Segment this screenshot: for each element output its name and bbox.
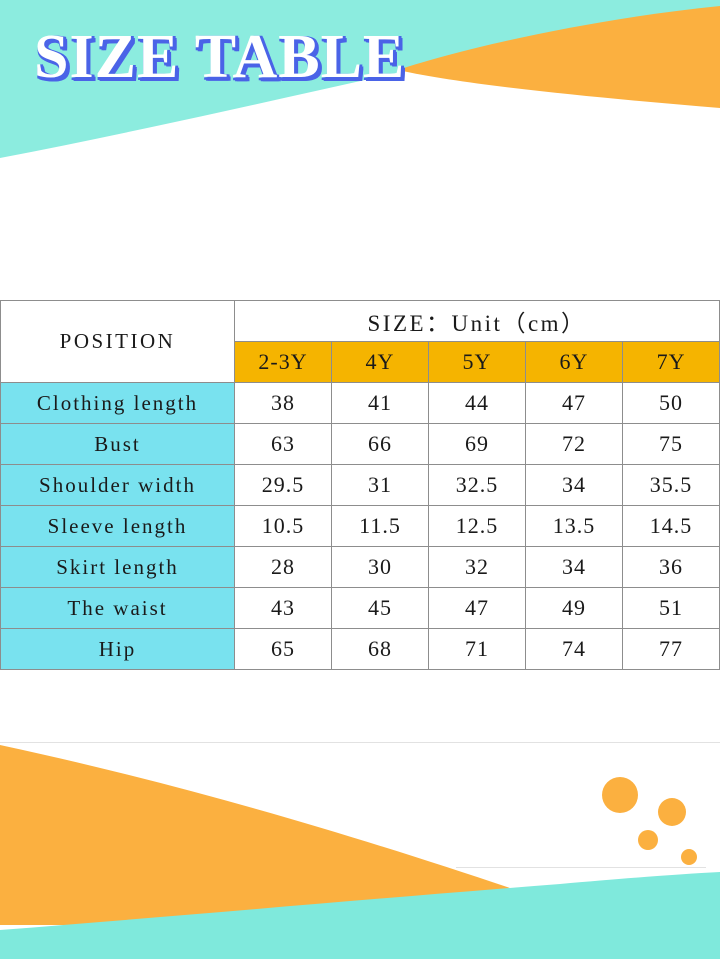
table-row: Bust 63 66 69 72 75 <box>1 424 720 465</box>
hairline-upper <box>0 742 720 743</box>
header-unit: SIZE：Unit（cm） <box>235 301 720 342</box>
row-value: 71 <box>429 629 526 670</box>
table-row: Hip 65 68 71 74 77 <box>1 629 720 670</box>
row-value: 44 <box>429 383 526 424</box>
row-value: 63 <box>235 424 332 465</box>
row-value: 28 <box>235 547 332 588</box>
size-table-page: SIZE TABLE POSITION SIZE：Unit（cm） 2-3Y 4… <box>0 0 720 959</box>
row-value: 29.5 <box>235 465 332 506</box>
hairline-lower <box>456 867 706 868</box>
row-value: 31 <box>332 465 429 506</box>
row-value: 34 <box>526 465 623 506</box>
size-table-head: POSITION SIZE：Unit（cm） 2-3Y 4Y 5Y 6Y 7Y <box>1 301 720 383</box>
row-value: 66 <box>332 424 429 465</box>
row-label: Hip <box>1 629 235 670</box>
header-size-0: 2-3Y <box>235 342 332 383</box>
header-size-2: 5Y <box>429 342 526 383</box>
row-value: 32 <box>429 547 526 588</box>
row-value: 43 <box>235 588 332 629</box>
bubble-tiny-icon <box>681 849 697 865</box>
row-value: 13.5 <box>526 506 623 547</box>
row-label: Shoulder width <box>1 465 235 506</box>
table-row: Sleeve length 10.5 11.5 12.5 13.5 14.5 <box>1 506 720 547</box>
row-value: 51 <box>623 588 720 629</box>
table-row: The waist 43 45 47 49 51 <box>1 588 720 629</box>
row-value: 10.5 <box>235 506 332 547</box>
bubble-large-icon <box>602 777 638 813</box>
row-label: Clothing length <box>1 383 235 424</box>
row-value: 36 <box>623 547 720 588</box>
row-value: 75 <box>623 424 720 465</box>
row-value: 74 <box>526 629 623 670</box>
row-label: Skirt length <box>1 547 235 588</box>
bubble-medium-icon <box>658 798 686 826</box>
header-size-4: 7Y <box>623 342 720 383</box>
row-value: 12.5 <box>429 506 526 547</box>
page-title: SIZE TABLE <box>34 26 405 88</box>
table-row: Shoulder width 29.5 31 32.5 34 35.5 <box>1 465 720 506</box>
row-value: 35.5 <box>623 465 720 506</box>
size-table: POSITION SIZE：Unit（cm） 2-3Y 4Y 5Y 6Y 7Y … <box>0 300 720 670</box>
size-table-body: Clothing length 38 41 44 47 50 Bust 63 6… <box>1 383 720 670</box>
row-value: 45 <box>332 588 429 629</box>
header-size-1: 4Y <box>332 342 429 383</box>
header-row-unit: POSITION SIZE：Unit（cm） <box>1 301 720 342</box>
header-position: POSITION <box>1 301 235 383</box>
table-row: Skirt length 28 30 32 34 36 <box>1 547 720 588</box>
orange-wedge-bottom-left <box>0 745 560 925</box>
row-value: 65 <box>235 629 332 670</box>
header-size-3: 6Y <box>526 342 623 383</box>
row-value: 14.5 <box>623 506 720 547</box>
row-value: 38 <box>235 383 332 424</box>
row-value: 30 <box>332 547 429 588</box>
row-label: The waist <box>1 588 235 629</box>
orange-wedge-top-right <box>398 6 720 108</box>
page-title-text: SIZE TABLE <box>34 26 405 88</box>
row-value: 34 <box>526 547 623 588</box>
cyan-wave-bottom <box>0 872 720 959</box>
row-value: 77 <box>623 629 720 670</box>
bubble-small-icon <box>638 830 658 850</box>
row-value: 72 <box>526 424 623 465</box>
row-value: 69 <box>429 424 526 465</box>
row-label: Bust <box>1 424 235 465</box>
row-value: 49 <box>526 588 623 629</box>
row-value: 47 <box>429 588 526 629</box>
row-label: Sleeve length <box>1 506 235 547</box>
size-table-container: POSITION SIZE：Unit（cm） 2-3Y 4Y 5Y 6Y 7Y … <box>0 300 720 670</box>
row-value: 41 <box>332 383 429 424</box>
table-row: Clothing length 38 41 44 47 50 <box>1 383 720 424</box>
row-value: 11.5 <box>332 506 429 547</box>
row-value: 50 <box>623 383 720 424</box>
row-value: 32.5 <box>429 465 526 506</box>
row-value: 47 <box>526 383 623 424</box>
row-value: 68 <box>332 629 429 670</box>
